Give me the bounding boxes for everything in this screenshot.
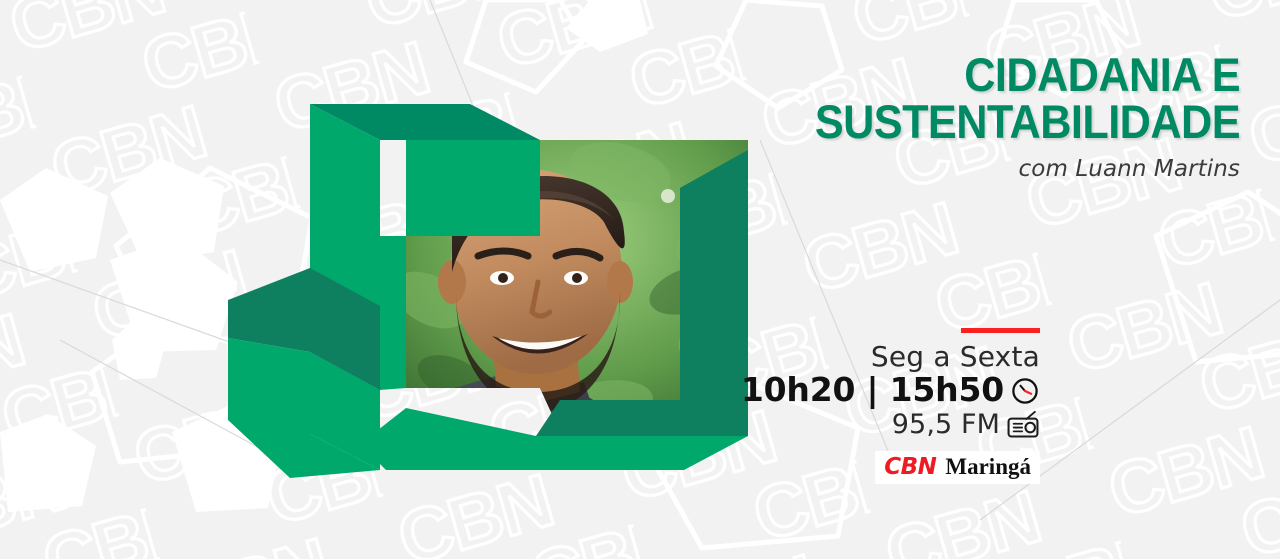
radio-icon [1006, 410, 1040, 440]
schedule-times: 10h20 | 15h50 [741, 372, 1004, 409]
show-title-line-2: SUSTENTABILIDADE [541, 99, 1240, 146]
city-wordmark: Maringá [945, 454, 1031, 480]
show-host-subtitle: com Luann Martins [480, 156, 1240, 182]
schedule-days: Seg a Sexta [680, 342, 1040, 372]
clock-icon [1010, 376, 1040, 406]
cbn-wordmark: CBN [884, 454, 936, 480]
cbn-maringa-logo: CBN Maringá [875, 451, 1040, 484]
radio-show-banner: CBN CBN [0, 0, 1280, 559]
show-title-line-1: CIDADANIA E [541, 52, 1240, 99]
station-frequency-row: 95,5 FM [680, 409, 1040, 440]
schedule-info-block: Seg a Sexta 10h20 | 15h50 95,5 FM CBN M [680, 328, 1040, 484]
red-divider-rule [961, 328, 1040, 333]
station-frequency: 95,5 FM [892, 409, 1000, 440]
schedule-times-row: 10h20 | 15h50 [680, 372, 1040, 409]
show-title-block: CIDADANIA E SUSTENTABILIDADE com Luann M… [480, 52, 1240, 182]
